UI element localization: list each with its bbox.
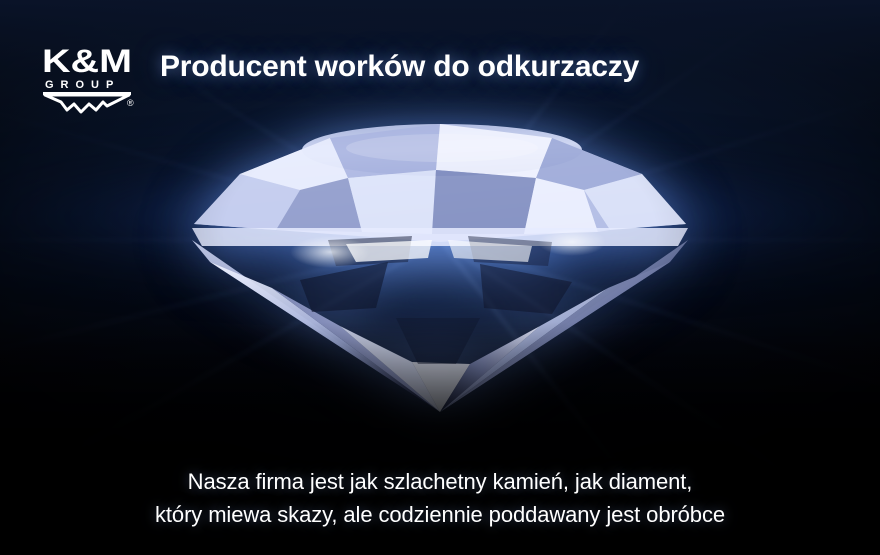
tagline-line-2: który miewa skazy, ale codziennie poddaw… <box>0 498 880 531</box>
page-title: Producent worków do odkurzaczy <box>160 50 639 84</box>
logo-wordmark: K&M <box>42 43 132 79</box>
tagline: Nasza firma jest jak szlachetny kamień, … <box>0 465 880 531</box>
tagline-line-1: Nasza firma jest jak szlachetny kamień, … <box>0 465 880 498</box>
promo-banner: K&M GROUP ® Producent worków do odkurzac… <box>0 0 880 555</box>
logo-emblem-shape <box>45 95 129 112</box>
km-group-logo[interactable]: K&M GROUP ® <box>41 42 141 120</box>
logo-trademark: ® <box>127 98 134 108</box>
logo-subtitle: GROUP <box>45 79 120 91</box>
